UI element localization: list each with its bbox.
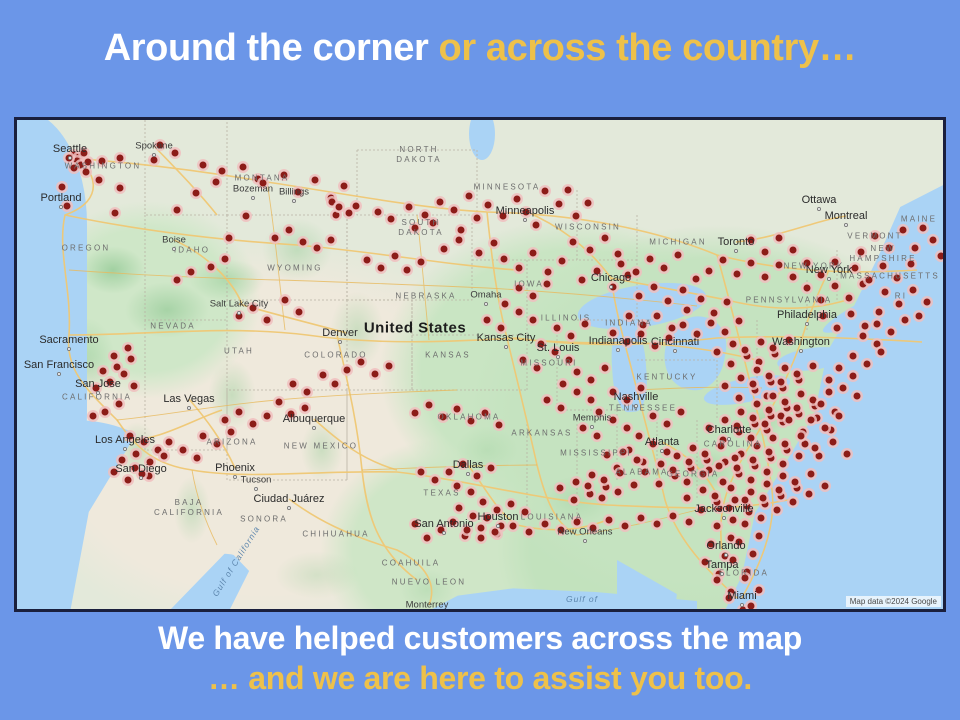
city-marker-icon (590, 425, 594, 429)
map-attribution: Map data ©2024 Google (846, 596, 941, 607)
city-marker-icon (251, 196, 255, 200)
map-state-label: GEORGIA (667, 470, 720, 479)
map-state-label: TEXAS (423, 489, 460, 498)
map-city-label: Denver (322, 327, 357, 339)
map-state-label: LOUISIANA (521, 513, 583, 522)
map-state-label: OKLAHOMA (438, 413, 501, 422)
city-marker-icon (817, 207, 821, 211)
map-city-label: Cincinnati (651, 336, 699, 348)
map-canvas[interactable]: WASHINGTONOREGONIDAHOMONTANAWYOMINGNORTH… (17, 120, 943, 609)
headline-gold-text: or across the country… (439, 27, 857, 69)
city-marker-icon (57, 372, 61, 376)
map-city-label: Jacksonville (694, 503, 753, 515)
city-marker-icon (67, 347, 71, 351)
map-city-label: Toronto (718, 236, 755, 248)
map-state-label: NEW HAMPSHIRE (849, 244, 916, 264)
city-marker-icon (609, 285, 613, 289)
city-marker-icon (292, 199, 296, 203)
map-state-label: OREGON (62, 244, 111, 253)
map-city-label: New Orleans (558, 527, 613, 538)
map-city-label: Monterrey (406, 600, 449, 610)
map-city-label: Atlanta (645, 436, 679, 448)
city-marker-icon (727, 437, 731, 441)
city-marker-icon (583, 539, 587, 543)
map-city-label: Bozeman (233, 184, 273, 195)
city-marker-icon (673, 349, 677, 353)
map-state-label: RI (895, 292, 907, 301)
map-state-label: ARIZONA (207, 438, 258, 447)
caption-line-1: We have helped customers across the map (0, 618, 960, 658)
slide-headline: Around the corner or across the country… (0, 28, 960, 70)
map-city-label: Miami (727, 590, 756, 602)
map-city-label: Indianapolis (589, 335, 648, 347)
city-marker-icon (634, 404, 638, 408)
map-city-label: Washington (772, 336, 830, 348)
map-state-label: VERMONT (847, 232, 902, 241)
map-state-label: CHIHUAHUA (302, 530, 369, 539)
map-city-label: Nashville (614, 391, 659, 403)
map-state-label: NORTH DAKOTA (396, 145, 442, 165)
customer-map[interactable]: WASHINGTONOREGONIDAHOMONTANAWYOMINGNORTH… (14, 117, 946, 612)
map-state-label: KENTUCKY (636, 373, 697, 382)
map-city-label: Spokane (135, 141, 173, 152)
city-marker-icon (484, 302, 488, 306)
city-marker-icon (172, 247, 176, 251)
map-city-label: Houston (478, 511, 519, 523)
map-water-label: Gulf of (566, 594, 598, 604)
map-state-label: NEW YORK (783, 262, 844, 271)
map-state-label: TENNESSEE (609, 404, 677, 413)
map-state-label: SONORA (240, 515, 288, 524)
city-marker-icon (123, 447, 127, 451)
city-marker-icon (805, 322, 809, 326)
map-state-label: NEW MEXICO (284, 442, 358, 451)
city-marker-icon (139, 476, 143, 480)
map-city-label: San Diego (115, 463, 166, 475)
map-city-label: Philadelphia (777, 309, 837, 321)
map-city-label: St. Louis (537, 342, 580, 354)
city-marker-icon (68, 156, 72, 160)
map-state-label: WASHINGTON (65, 162, 142, 171)
city-marker-icon (523, 218, 527, 222)
map-city-label: Sacramento (39, 334, 98, 346)
map-city-label: Dallas (453, 459, 484, 471)
map-country-label: United States (364, 320, 466, 337)
map-state-label: PENNSYLVANIA (746, 296, 833, 305)
map-state-label: IOWA (514, 280, 544, 289)
city-marker-icon (466, 472, 470, 476)
map-city-label: Tampa (705, 559, 738, 571)
map-city-label: Memphis (573, 413, 612, 424)
city-marker-icon (660, 449, 664, 453)
city-marker-icon (152, 153, 156, 157)
map-state-label: UTAH (224, 347, 254, 356)
map-state-label: ALABAMA (615, 468, 668, 477)
map-city-label: Ciudad Juárez (254, 493, 325, 505)
map-state-label: IDAHO (174, 246, 210, 255)
city-marker-icon (496, 524, 500, 528)
city-marker-icon (254, 487, 258, 491)
city-marker-icon (827, 277, 831, 281)
map-city-label: Billings (279, 187, 309, 198)
city-marker-icon (338, 340, 342, 344)
map-city-label: Salt Lake City (210, 299, 269, 310)
city-marker-icon (287, 506, 291, 510)
map-state-label: BAJA CALIFORNIA (154, 498, 224, 518)
map-state-label: ARKANSAS (511, 429, 572, 438)
map-city-label: Las Vegas (163, 393, 214, 405)
city-marker-icon (233, 475, 237, 479)
map-state-label: COLORADO (304, 351, 367, 360)
map-state-label: NEBRASKA (395, 292, 456, 301)
map-city-label: Montreal (825, 210, 868, 222)
city-marker-icon (96, 391, 100, 395)
caption-line-2: … and we are here to assist you too. (0, 658, 960, 698)
city-marker-icon (312, 426, 316, 430)
map-city-label: Charlotte (707, 424, 752, 436)
city-marker-icon (720, 572, 724, 576)
map-city-label: Kansas City (477, 332, 536, 344)
map-city-label: Phoenix (215, 462, 255, 474)
map-state-label: NEVADA (150, 322, 196, 331)
map-city-label: San Antonio (414, 518, 473, 530)
map-city-label: Tucson (241, 475, 272, 486)
map-city-label: Boise (162, 235, 186, 246)
map-state-label: MAINE (901, 215, 937, 224)
city-marker-icon (616, 348, 620, 352)
map-city-label: Seattle (53, 143, 87, 155)
city-marker-icon (556, 355, 560, 359)
map-city-label: New York (806, 264, 852, 276)
map-state-label: FLORIDA (719, 569, 769, 578)
city-marker-icon (722, 516, 726, 520)
map-state-label: CAROLINA (704, 440, 763, 449)
city-marker-icon (799, 349, 803, 353)
map-state-label: SOUTH DAKOTA (398, 218, 444, 238)
headline-white-text: Around the corner (104, 27, 439, 69)
map-state-label: MINNESOTA (474, 183, 541, 192)
map-state-label: KANSAS (425, 351, 471, 360)
map-state-label: MISSOURI (520, 359, 577, 368)
map-state-label: MONTANA (235, 174, 290, 183)
map-city-label: Orlando (706, 540, 745, 552)
map-city-label: Albuquerque (283, 413, 345, 425)
city-marker-icon (504, 345, 508, 349)
map-city-label: San Jose (75, 378, 121, 390)
map-state-label: WYOMING (267, 264, 322, 273)
map-state-label: MASSACHUSETTS (840, 272, 940, 281)
city-marker-icon (734, 249, 738, 253)
city-marker-icon (237, 311, 241, 315)
map-city-label: Los Angeles (95, 434, 155, 446)
map-state-label: NUEVO LEON (392, 578, 466, 587)
map-state-label: INDIANA (605, 319, 653, 328)
map-state-label: WISCONSIN (555, 223, 621, 232)
map-state-label: MICHIGAN (649, 238, 707, 247)
city-marker-icon (442, 531, 446, 535)
city-marker-icon (844, 223, 848, 227)
map-city-label: Chicago (591, 272, 631, 284)
city-marker-icon (59, 205, 63, 209)
map-city-label: Omaha (470, 290, 501, 301)
map-city-label: Portland (41, 192, 82, 204)
map-state-label: MISSISSIPPI (560, 449, 632, 458)
map-labels-layer: WASHINGTONOREGONIDAHOMONTANAWYOMINGNORTH… (17, 120, 943, 609)
map-state-label: ILLINOIS (541, 314, 592, 323)
map-city-label: San Francisco (24, 359, 94, 371)
map-city-label: Minneapolis (496, 205, 555, 217)
city-marker-icon (740, 603, 744, 607)
map-city-label: Ottawa (802, 194, 837, 206)
map-water-label: Gulf of California (210, 524, 262, 598)
slide-caption: We have helped customers across the map … (0, 618, 960, 698)
city-marker-icon (724, 553, 728, 557)
city-marker-icon (187, 406, 191, 410)
map-state-label: COAHUILA (382, 559, 441, 568)
